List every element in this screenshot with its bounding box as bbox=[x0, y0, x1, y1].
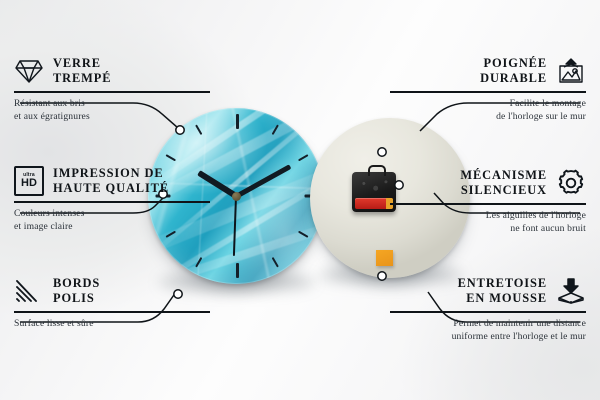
feature-title: BORDSPOLIS bbox=[53, 276, 100, 306]
feature-mecanisme-silencieux: MÉCANISMESILENCIEUX Les aiguilles de l'h… bbox=[390, 168, 586, 236]
feature-title: ENTRETOISEEN MOUSSE bbox=[458, 276, 547, 306]
feature-description: Surface lisse et sûre bbox=[14, 317, 210, 331]
feature-verre-trempe: VERRETREMPÉ Résistant aux briset aux égr… bbox=[14, 56, 210, 124]
feature-description: Les aiguilles de l'horlogene font aucun … bbox=[390, 209, 586, 236]
feature-divider bbox=[390, 91, 586, 93]
gear-icon bbox=[556, 168, 586, 198]
feature-title: MÉCANISMESILENCIEUX bbox=[460, 168, 547, 198]
ultra-hd-icon: ultra HD bbox=[14, 166, 44, 196]
diamond-icon bbox=[14, 56, 44, 86]
ultra-hd-bottom-label: HD bbox=[21, 178, 37, 189]
feature-impression-haute-qualite: ultra HD IMPRESSION DEHAUTE QUALITÉ Coul… bbox=[14, 166, 210, 234]
feature-header: VERRETREMPÉ bbox=[14, 56, 210, 86]
picture-hanger-icon bbox=[556, 56, 586, 86]
polished-edge-icon bbox=[14, 276, 44, 306]
feature-header: POIGNÉEDURABLE bbox=[390, 56, 586, 86]
feature-divider bbox=[14, 201, 210, 203]
feature-divider bbox=[390, 311, 586, 313]
feature-entretoise-en-mousse: ENTRETOISEEN MOUSSE Permet de maintenir … bbox=[390, 276, 586, 344]
mechanism-detail bbox=[357, 177, 391, 193]
feature-bords-polis: BORDSPOLIS Surface lisse et sûre bbox=[14, 276, 210, 330]
feature-title: IMPRESSION DEHAUTE QUALITÉ bbox=[53, 166, 169, 196]
feature-divider bbox=[390, 203, 586, 205]
foam-spacer-pad bbox=[376, 250, 393, 266]
feature-description: Permet de maintenir une distanceuniforme… bbox=[390, 317, 586, 344]
foam-spacer-icon bbox=[556, 276, 586, 306]
clock-center-cap bbox=[232, 192, 241, 201]
feature-poignee-durable: POIGNÉEDURABLE Facilite le montagede l'h… bbox=[390, 56, 586, 124]
feature-description: Couleurs intenseset image claire bbox=[14, 207, 210, 234]
feature-description: Facilite le montagede l'horloge sur le m… bbox=[390, 97, 586, 124]
clock-tick bbox=[236, 114, 239, 129]
feature-divider bbox=[14, 311, 210, 313]
feature-title: VERRETREMPÉ bbox=[53, 56, 111, 86]
feature-header: ultra HD IMPRESSION DEHAUTE QUALITÉ bbox=[14, 166, 210, 196]
feature-title: POIGNÉEDURABLE bbox=[480, 56, 547, 86]
feature-header: BORDSPOLIS bbox=[14, 276, 210, 306]
clock-tick bbox=[236, 263, 239, 278]
mechanism-hanger-icon bbox=[368, 165, 386, 176]
infographic-canvas: VERRETREMPÉ Résistant aux briset aux égr… bbox=[0, 0, 600, 400]
feature-description: Résistant aux briset aux égratignures bbox=[14, 97, 210, 124]
feature-header: ENTRETOISEEN MOUSSE bbox=[390, 276, 586, 306]
feature-divider bbox=[14, 91, 210, 93]
battery bbox=[355, 198, 393, 209]
feature-header: MÉCANISMESILENCIEUX bbox=[390, 168, 586, 198]
